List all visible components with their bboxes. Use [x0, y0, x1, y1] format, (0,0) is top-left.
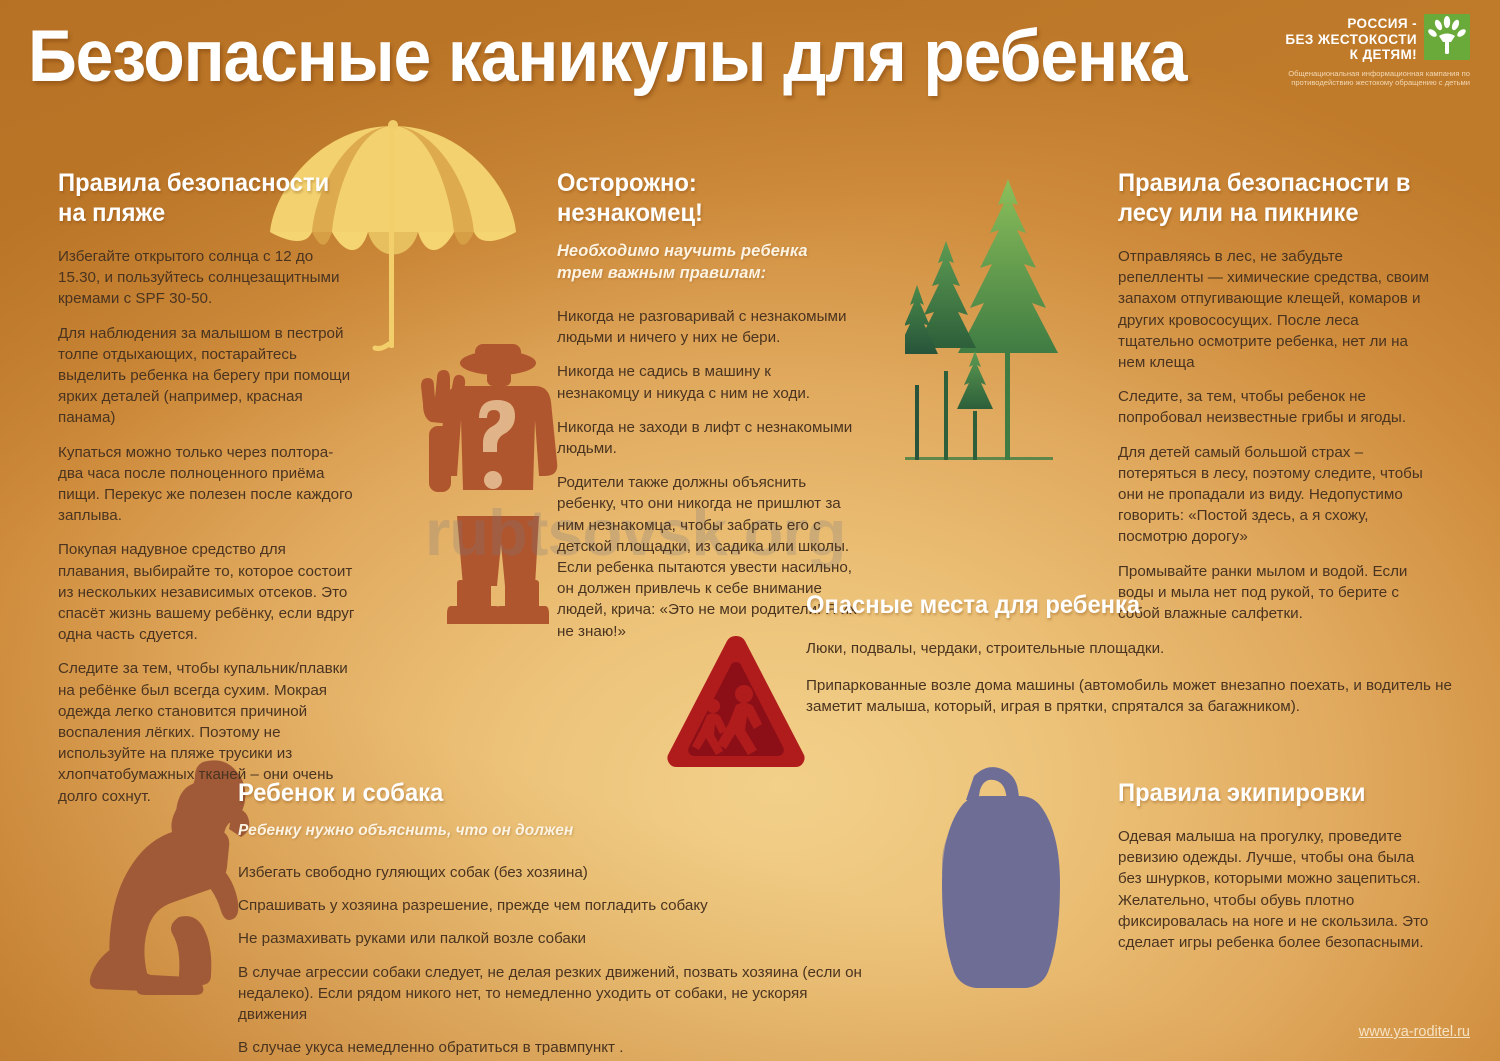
stranger-paragraph-3: Никогда не заходи в лифт с незнакомыми л… [557, 417, 857, 459]
section-child-and-dog: Ребенок и собака Ребенку нужно объяснить… [238, 778, 863, 1061]
section-heading-forest: Правила безопасности в лесу или на пикни… [1118, 168, 1414, 228]
forest-paragraph-3: Для детей самый большой страх – потерять… [1118, 442, 1430, 548]
section-heading-beach: Правила безопасности на пляже [58, 168, 343, 228]
dog-paragraph-2: Спрашивать у хозяина разрешение, прежде … [238, 895, 863, 916]
danger-paragraph-1: Люки, подвалы, чердаки, строительные пло… [806, 638, 1466, 659]
logo-text: РОССИЯ - БЕЗ ЖЕСТОКОСТИ К ДЕТЯМ! [1285, 14, 1417, 63]
backpack-silhouette [930, 760, 1075, 990]
children-crossing-warning-sign [664, 632, 809, 772]
logo-row: РОССИЯ - БЕЗ ЖЕСТОКОСТИ К ДЕТЯМ! [1260, 14, 1470, 63]
beach-paragraph-2: Для наблюдения за малышом в пестрой толп… [58, 323, 358, 429]
section-lead-stranger: Необходимо научить ребенка трем важным п… [557, 240, 857, 284]
section-heading-stranger: Осторожно: незнакомец! [557, 168, 842, 228]
section-heading-danger: Опасные места для ребенка [806, 590, 1433, 620]
stranger-paragraph-1: Никогда не разговаривай с незнакомыми лю… [557, 306, 857, 348]
beach-paragraph-4: Покупая надувное средство для плавания, … [58, 539, 358, 645]
logo-line-3: К ДЕТЯМ! [1285, 47, 1417, 63]
campaign-logo[interactable]: РОССИЯ - БЕЗ ЖЕСТОКОСТИ К ДЕТЯМ! [1260, 14, 1470, 88]
forest-paragraph-1: Отправляясь в лес, не забудьте репеллент… [1118, 246, 1430, 373]
poster-canvas: Безопасные каникулы для ребенка РОССИЯ -… [0, 0, 1500, 1061]
gear-paragraph-1: Одевая малыша на прогулку, проведите рев… [1118, 826, 1430, 953]
man-with-question-mark-silhouette [395, 330, 580, 650]
forest-paragraph-2: Следите, за тем, чтобы ребенок не попроб… [1118, 386, 1430, 428]
section-dangerous-places: Опасные места для ребенка Люки, подвалы,… [806, 590, 1466, 734]
dog-paragraph-3: Не размахивать руками или палкой возле с… [238, 928, 863, 949]
footer-website-link[interactable]: www.ya-roditel.ru [1359, 1024, 1470, 1040]
section-stranger-danger: Осторожно: незнакомец! Необходимо научит… [557, 168, 857, 642]
dog-paragraph-1: Избегать свободно гуляющих собак (без хо… [238, 862, 863, 883]
stranger-paragraph-2: Никогда не садись в машину к незнакомцу … [557, 361, 857, 403]
beach-paragraph-3: Купаться можно только через полтора-два … [58, 442, 358, 527]
beach-paragraph-1: Избегайте открытого солнца с 12 до 15.30… [58, 246, 358, 310]
tree-hand-icon-glyph [1424, 14, 1470, 60]
section-lead-dog: Ребенку нужно объяснить, что он должен [238, 820, 863, 842]
tree-hand-icon [1424, 14, 1470, 60]
dog-paragraph-4: В случае агрессии собаки следует, не дел… [238, 962, 863, 1026]
section-gear-rules: Правила экипировки Одевая малыша на прог… [1118, 778, 1430, 953]
section-heading-gear: Правила экипировки [1118, 778, 1414, 808]
poster-title: Безопасные каникулы для ребенка [28, 17, 1186, 97]
dog-paragraph-5: В случае укуса немедленно обратиться в т… [238, 1037, 863, 1058]
danger-paragraph-2: Припаркованные возле дома машины (автомо… [806, 675, 1466, 717]
section-beach-safety: Правила безопасности на пляже Избегайте … [58, 168, 358, 807]
logo-line-2: БЕЗ ЖЕСТОКОСТИ [1285, 32, 1417, 48]
section-forest-safety: Правила безопасности в лесу или на пикни… [1118, 168, 1430, 624]
section-heading-dog: Ребенок и собака [238, 778, 832, 808]
logo-subtitle: Общенациональная информационная кампания… [1260, 69, 1470, 88]
logo-line-1: РОССИЯ - [1285, 16, 1417, 32]
